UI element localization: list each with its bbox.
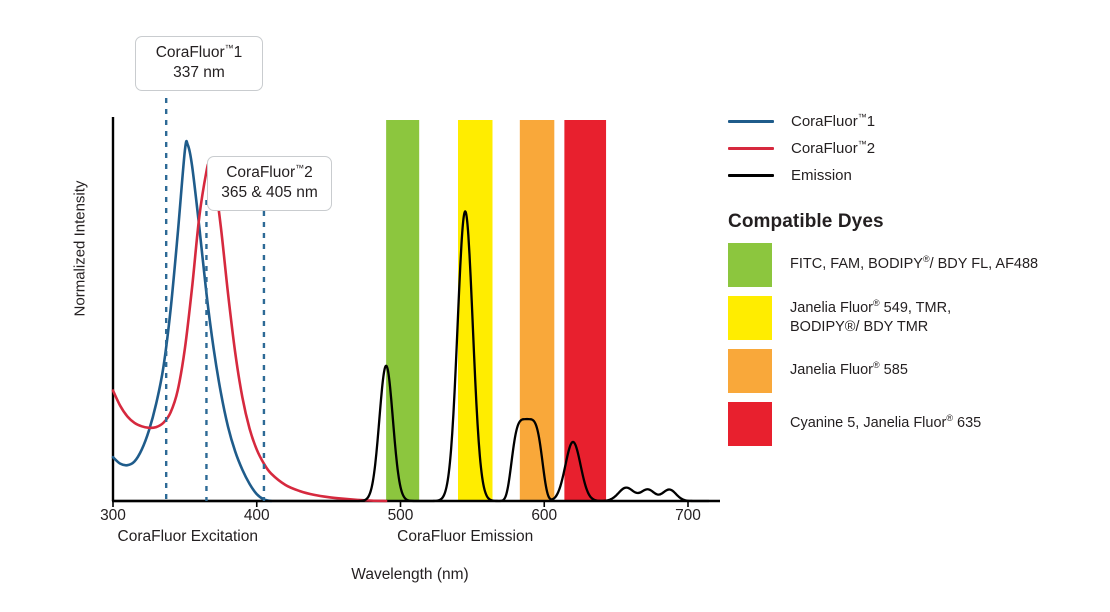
- axis-section-excitation: CoraFluor Excitation: [78, 528, 298, 546]
- dye-item-label: Cyanine 5, Janelia Fluor® 635: [790, 414, 981, 433]
- legend-item-label: CoraFluor™1: [791, 113, 875, 130]
- legend-item-1[interactable]: CoraFluor™1: [728, 108, 1100, 135]
- dye-label-line2: BODIPY®/ BDY TMR: [790, 318, 951, 337]
- dye-item-label: FITC, FAM, BODIPY®/ BDY FL, AF488: [790, 255, 1038, 274]
- orange-band: [520, 120, 555, 501]
- callout-cf2-title: CoraFluor™2: [218, 163, 321, 183]
- x-tick-300: 300: [83, 507, 143, 525]
- compatible-dyes-heading: Compatible Dyes: [728, 211, 1100, 233]
- trademark-icon: ™: [295, 163, 304, 173]
- dye-color-swatch: [728, 349, 772, 393]
- marker-callout-corafluor1: CoraFluor™1 337 nm: [135, 36, 263, 91]
- callout-cf2-value: 365 & 405 nm: [218, 183, 321, 203]
- registered-icon: ®: [873, 360, 880, 370]
- legend-line-swatch: [728, 147, 774, 150]
- dye-color-swatch: [728, 243, 772, 287]
- callout-cf1-value: 337 nm: [146, 63, 252, 83]
- trademark-icon: ™: [858, 112, 867, 122]
- yellow-band: [458, 120, 493, 501]
- dye-label-line1: Cyanine 5, Janelia Fluor® 635: [790, 414, 981, 433]
- registered-icon: ®: [873, 298, 880, 308]
- axis-section-emission: CoraFluor Emission: [355, 528, 575, 546]
- legend-item-label: Emission: [791, 167, 852, 184]
- series-legend: CoraFluor™1CoraFluor™2Emission: [728, 108, 1100, 189]
- trademark-icon: ™: [858, 139, 867, 149]
- dye-color-swatch: [728, 296, 772, 340]
- dye-item-label: Janelia Fluor® 585: [790, 361, 908, 380]
- curve-corafluor2: [113, 164, 386, 501]
- y-axis-label: Normalized Intensity: [72, 159, 89, 339]
- x-axis-title: Wavelength (nm): [0, 566, 820, 584]
- registered-icon: ®: [923, 254, 930, 264]
- x-tick-500: 500: [371, 507, 431, 525]
- dye-item-4[interactable]: Cyanine 5, Janelia Fluor® 635: [728, 402, 1100, 446]
- dye-label-line1: Janelia Fluor® 585: [790, 361, 908, 380]
- dye-label-line1: Janelia Fluor® 549, TMR,: [790, 299, 951, 318]
- callout-cf1-title: CoraFluor™1: [146, 43, 252, 63]
- legend-item-3[interactable]: Emission: [728, 162, 1100, 189]
- dye-item-3[interactable]: Janelia Fluor® 585: [728, 349, 1100, 393]
- x-tick-400: 400: [227, 507, 287, 525]
- legend-panel: CoraFluor™1CoraFluor™2Emission Compatibl…: [728, 108, 1100, 446]
- legend-item-2[interactable]: CoraFluor™2: [728, 135, 1100, 162]
- legend-line-swatch: [728, 174, 774, 177]
- dye-item-label: Janelia Fluor® 549, TMR,BODIPY®/ BDY TMR: [790, 299, 951, 338]
- trademark-icon: ™: [225, 43, 234, 53]
- legend-line-swatch: [728, 120, 774, 123]
- dye-item-1[interactable]: FITC, FAM, BODIPY®/ BDY FL, AF488: [728, 243, 1100, 287]
- compatible-dyes-list: FITC, FAM, BODIPY®/ BDY FL, AF488Janelia…: [728, 243, 1100, 446]
- dye-color-swatch: [728, 402, 772, 446]
- spectra-figure: CoraFluor™1 337 nm CoraFluor™2 365 & 405…: [0, 0, 1110, 612]
- x-tick-700: 700: [658, 507, 718, 525]
- marker-callout-corafluor2: CoraFluor™2 365 & 405 nm: [207, 156, 332, 211]
- green-band: [386, 120, 419, 501]
- dye-item-2[interactable]: Janelia Fluor® 549, TMR,BODIPY®/ BDY TMR: [728, 296, 1100, 340]
- x-tick-600: 600: [514, 507, 574, 525]
- legend-item-label: CoraFluor™2: [791, 140, 875, 157]
- dye-label-line1: FITC, FAM, BODIPY®/ BDY FL, AF488: [790, 255, 1038, 274]
